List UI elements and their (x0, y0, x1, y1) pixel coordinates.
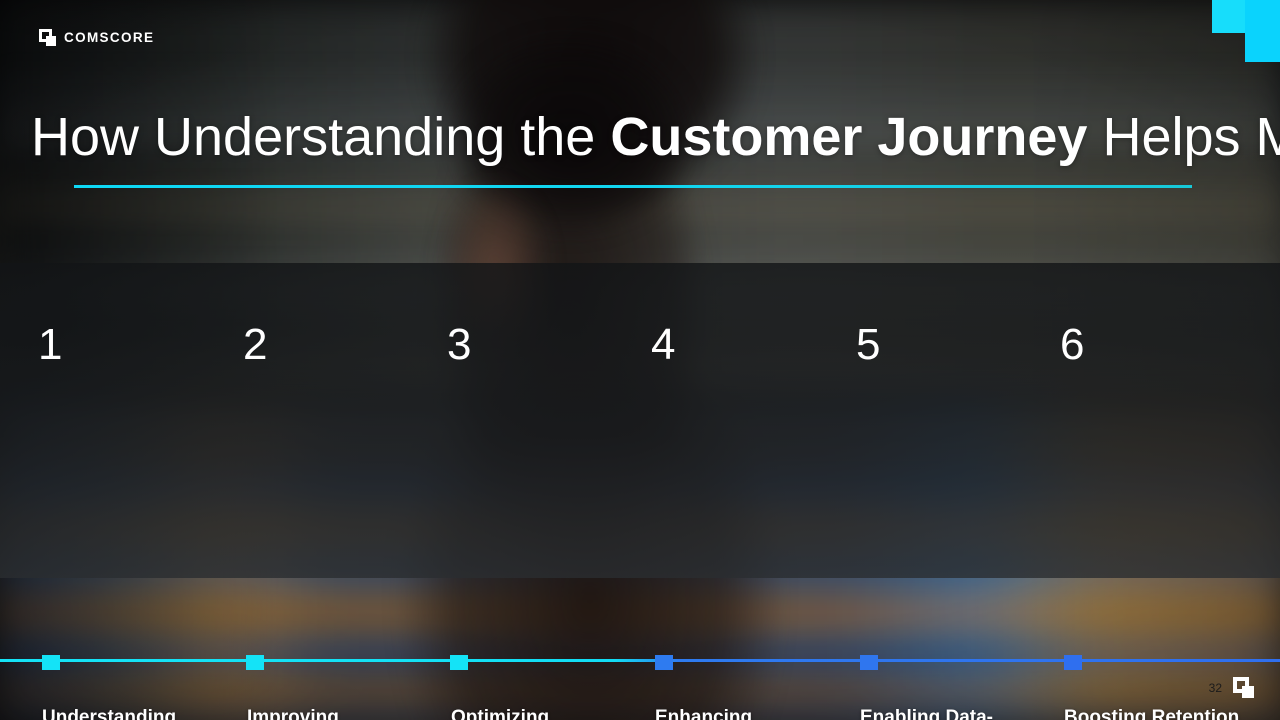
timeline-marker (1064, 655, 1082, 670)
timeline-step-number: 2 (243, 323, 267, 367)
page-title: How Understanding the Customer Journey H… (0, 110, 1280, 164)
comscore-footer-mark-icon (1233, 677, 1254, 698)
title-part-1: How Understanding the (31, 107, 610, 167)
timeline-step-number: 4 (651, 323, 675, 367)
title-emphasis: Customer Journey (610, 107, 1087, 167)
title-underline (74, 185, 1192, 188)
timeline-axis (0, 659, 1280, 662)
comscore-mark-icon (39, 29, 56, 46)
timeline-step-label: Boosting Retention and Advocacy (1064, 703, 1249, 720)
timeline-step-number: 1 (38, 323, 62, 367)
timeline-step-number: 3 (447, 323, 471, 367)
timeline-marker (42, 655, 60, 670)
timeline-step-number: 6 (1060, 323, 1084, 367)
timeline-step-label: Enhancing Customer Experience (655, 703, 840, 720)
title-block: How Understanding the Customer Journey H… (0, 110, 1280, 188)
timeline-numbers: 123456 (0, 323, 1280, 383)
timeline-step-label: Optimizing Marketing Spend (451, 703, 636, 720)
brand-logo: COMSCORE (39, 29, 154, 46)
timeline-step-label: Understanding Customer Behavior (42, 703, 227, 720)
timeline: 123456 Understanding Customer BehaviorIm… (0, 263, 1280, 578)
timeline-marker (246, 655, 264, 670)
corner-block-right-icon (1245, 0, 1280, 62)
timeline-marker (655, 655, 673, 670)
timeline-marker (450, 655, 468, 670)
title-part-2: Helps Marketers (1087, 107, 1280, 167)
page-number: 32 (1209, 681, 1222, 695)
brand-logo-text: COMSCORE (64, 30, 154, 45)
timeline-marker (860, 655, 878, 670)
timeline-step-label: Improving Personalization (247, 703, 432, 720)
slide: COMSCORE How Understanding the Customer … (0, 0, 1280, 720)
timeline-step-label: Enabling Data-Driven Decisions (860, 703, 1045, 720)
timeline-step-number: 5 (856, 323, 880, 367)
